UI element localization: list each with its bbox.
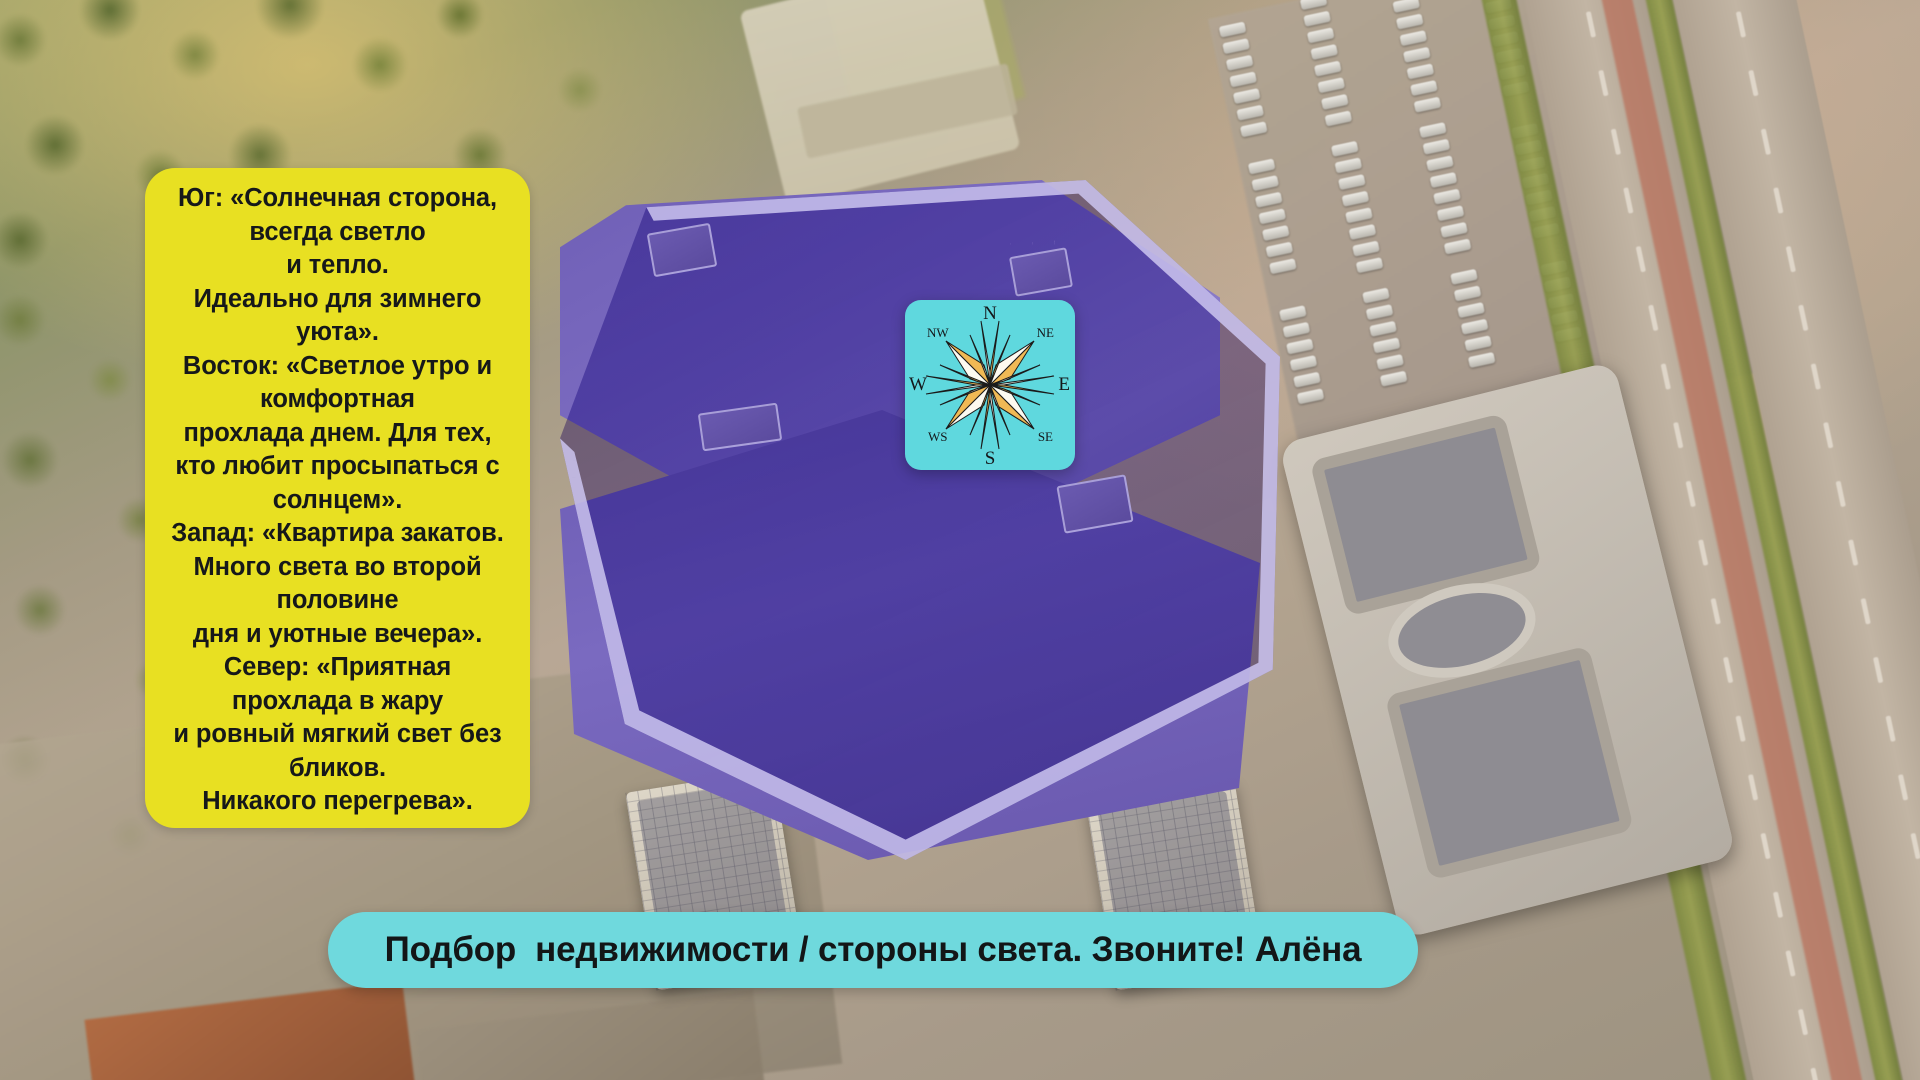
road-lane-dash <box>1748 70 1758 96</box>
parked-car <box>1437 205 1465 221</box>
road-lane-dash <box>1586 11 1596 37</box>
road-lane-dash <box>1598 70 1608 96</box>
parked-car <box>1410 80 1438 96</box>
road-lane-dash <box>1736 11 1746 37</box>
road-lane-dash <box>1786 246 1796 272</box>
parked-car <box>1248 158 1276 174</box>
orientation-info-card: Юг: «Солнечная сторона, всегда светло и … <box>145 168 530 828</box>
parked-car <box>1290 355 1318 371</box>
road-lane-dash <box>1761 129 1771 155</box>
road-lane-dash <box>1785 950 1795 976</box>
road-lane-dash <box>1836 481 1846 507</box>
parked-car <box>1406 63 1434 79</box>
parked-car <box>1362 287 1390 303</box>
parked-car <box>1376 354 1404 370</box>
parked-car <box>1414 97 1442 113</box>
parked-car <box>1399 30 1427 46</box>
compass-label-south: S <box>985 448 996 470</box>
orientation-info-text: Юг: «Солнечная сторона, всегда светло и … <box>159 182 516 819</box>
parked-car <box>1468 352 1496 368</box>
road-lane-dash <box>1811 363 1821 389</box>
parked-car <box>1283 322 1311 338</box>
parked-car <box>1440 222 1468 238</box>
parked-car <box>1222 38 1250 54</box>
parked-car <box>1356 257 1384 273</box>
parked-car <box>1444 238 1472 254</box>
parked-car <box>1321 94 1349 110</box>
parked-car <box>1226 55 1254 71</box>
road-lane-dash <box>1861 598 1871 624</box>
parked-car <box>1380 371 1408 387</box>
parked-car <box>1342 191 1370 207</box>
road-lane-dash <box>1686 481 1696 507</box>
parked-car <box>1310 44 1338 60</box>
parked-car <box>1324 110 1352 126</box>
road-lane-dash <box>1648 305 1658 331</box>
road-lane-dash <box>1910 833 1920 859</box>
parked-car <box>1426 155 1454 171</box>
contact-banner-text: Подбор недвижимости / стороны света. Зво… <box>385 930 1362 970</box>
parked-car <box>1373 337 1401 353</box>
parked-car <box>1396 13 1424 29</box>
parked-car <box>1345 207 1373 223</box>
parked-car <box>1233 88 1261 104</box>
compass-label-southwest: WS <box>928 429 948 445</box>
road-lane-dash <box>1760 833 1770 859</box>
parked-car <box>1450 269 1478 285</box>
road-lane-dash <box>1885 715 1895 741</box>
parked-car <box>1392 0 1420 13</box>
road-lane-dash <box>1698 539 1708 565</box>
parked-car <box>1236 105 1264 121</box>
compass-label-northeast: NE <box>1037 325 1054 341</box>
parked-car <box>1349 224 1377 240</box>
road-lane-dash <box>1848 539 1858 565</box>
parked-car <box>1403 47 1431 63</box>
contact-banner[interactable]: Подбор недвижимости / стороны света. Зво… <box>328 912 1418 988</box>
parked-car <box>1307 27 1335 43</box>
road-lane-dash <box>1748 774 1758 800</box>
parked-car <box>1240 121 1268 137</box>
parked-car <box>1334 157 1362 173</box>
highlighted-building-overlay <box>560 180 1280 860</box>
parked-car <box>1331 141 1359 157</box>
parked-car <box>1293 372 1321 388</box>
road-lane-dash <box>1773 187 1783 213</box>
parked-car <box>1369 321 1397 337</box>
parked-car <box>1317 77 1345 93</box>
parked-car <box>1286 338 1314 354</box>
parked-car <box>1314 61 1342 77</box>
road-lane-dash <box>1735 715 1745 741</box>
parked-car <box>1366 304 1394 320</box>
road-lane-dash <box>1611 129 1621 155</box>
road-lane-dash <box>1823 422 1833 448</box>
parked-car <box>1219 21 1247 37</box>
parked-car <box>1352 241 1380 257</box>
parked-car <box>1430 172 1458 188</box>
road-lane-dash <box>1898 774 1908 800</box>
compass-rose-card: N NE E SE S WS W NW <box>905 300 1075 470</box>
compass-label-west: W <box>909 374 927 396</box>
parked-car <box>1279 305 1307 321</box>
parked-car <box>1229 71 1257 87</box>
road-lane-dash <box>1810 1068 1820 1080</box>
road-lane-dash <box>1623 187 1633 213</box>
road-lane-dash <box>1773 892 1783 918</box>
road-lane-dash <box>1673 422 1683 448</box>
parked-car <box>1454 285 1482 301</box>
parked-car <box>1419 122 1447 138</box>
road-lane-dash <box>1798 1009 1808 1035</box>
compass-label-southeast: SE <box>1038 429 1053 445</box>
road-lane-dash <box>1873 657 1883 683</box>
compass-label-northwest: NW <box>927 325 949 341</box>
parked-car <box>1464 335 1492 351</box>
road-lane-dash <box>1661 363 1671 389</box>
parked-car <box>1457 302 1485 318</box>
road-lane-dash <box>1711 598 1721 624</box>
parked-car <box>1461 319 1489 335</box>
parked-car <box>1297 388 1325 404</box>
road-lane-dash <box>1723 657 1733 683</box>
parked-car <box>1300 0 1328 10</box>
road-lane-dash <box>1798 305 1808 331</box>
parked-car <box>1338 174 1366 190</box>
compass-label-east: E <box>1058 374 1070 396</box>
poster-canvas: N NE E SE S WS W NW Юг: «Солнечная сторо… <box>0 0 1920 1080</box>
parked-car <box>1303 11 1331 27</box>
compass-label-north: N <box>983 303 997 325</box>
parked-car <box>1423 139 1451 155</box>
road-lane-dash <box>1636 246 1646 272</box>
parked-car <box>1433 189 1461 205</box>
